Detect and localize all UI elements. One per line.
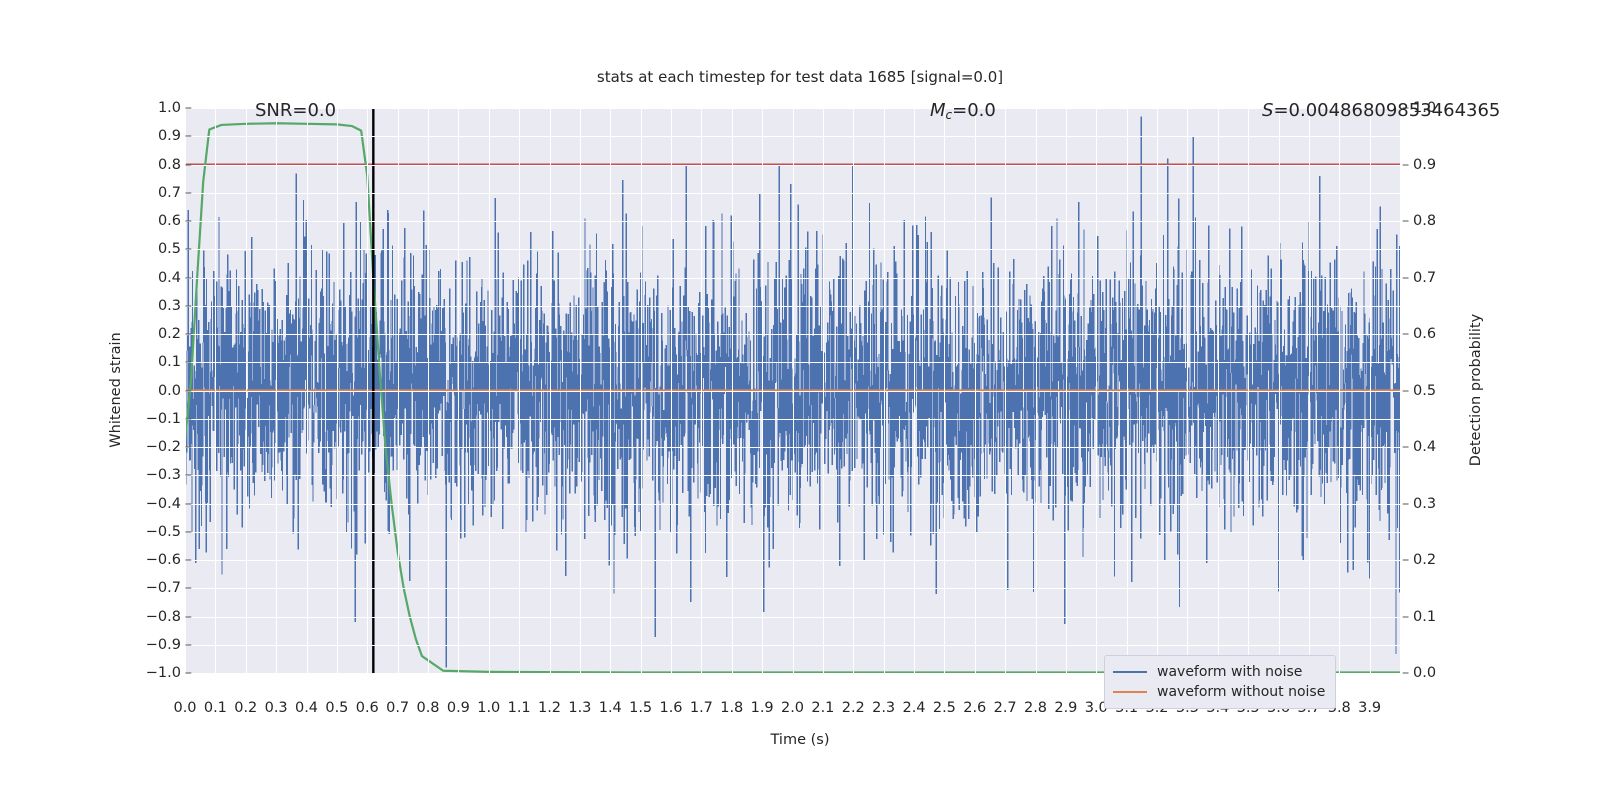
gridline-horizontal bbox=[185, 249, 1400, 250]
x-tick-label: 0.5 bbox=[325, 700, 348, 716]
y-tick-label-left: −0.9– bbox=[135, 637, 192, 653]
x-tick-label: 0.4 bbox=[295, 700, 318, 716]
annotation-score-value: =0.00486809853464365 bbox=[1273, 100, 1500, 121]
y-tick-label-left: −0.3– bbox=[135, 467, 192, 483]
gridline-horizontal bbox=[185, 306, 1400, 307]
y-tick-label-right: –0.6 bbox=[1402, 326, 1436, 342]
gridline-horizontal bbox=[185, 504, 1400, 505]
gridline-horizontal bbox=[185, 136, 1400, 137]
gridline-horizontal bbox=[185, 532, 1400, 533]
gridline-horizontal bbox=[185, 334, 1400, 335]
y-axis-label-left: Whitened strain bbox=[108, 332, 124, 447]
y-tick-label-left: 0.1– bbox=[135, 354, 192, 370]
gridline-horizontal bbox=[185, 391, 1400, 392]
x-tick-label: 2.2 bbox=[842, 700, 865, 716]
y-tick-label-left: 0.6– bbox=[135, 213, 192, 229]
figure-canvas: stats at each timestep for test data 168… bbox=[0, 0, 1600, 800]
legend-swatch-orange bbox=[1113, 691, 1147, 693]
x-tick-label: 2.0 bbox=[781, 700, 804, 716]
annotation-score: S=0.00486809853464365 bbox=[1262, 100, 1500, 121]
y-tick-label-right: –0.9 bbox=[1402, 157, 1436, 173]
y-tick-label-left: −0.2– bbox=[135, 439, 192, 455]
x-tick-label: 0.1 bbox=[204, 700, 227, 716]
y-tick-label-right: –0.3 bbox=[1402, 496, 1436, 512]
legend-label-0: waveform with noise bbox=[1157, 664, 1302, 680]
y-tick-label-left: −0.5– bbox=[135, 524, 192, 540]
x-tick-label: 1.7 bbox=[690, 700, 713, 716]
gridline-horizontal bbox=[185, 617, 1400, 618]
legend-swatch-blue bbox=[1113, 671, 1147, 673]
y-tick-label-right: –0.5 bbox=[1402, 383, 1436, 399]
x-tick-label: 1.3 bbox=[568, 700, 591, 716]
y-axis-label-right: Detection probability bbox=[1468, 314, 1484, 466]
gridline-horizontal bbox=[185, 278, 1400, 279]
y-tick-label-left: −0.7– bbox=[135, 580, 192, 596]
annotation-chirp-mass-symbol: M bbox=[930, 100, 946, 121]
x-tick-label: 0.3 bbox=[265, 700, 288, 716]
y-tick-label-left: 0.9– bbox=[135, 128, 192, 144]
x-tick-label: 2.5 bbox=[933, 700, 956, 716]
x-tick-label: 0.8 bbox=[416, 700, 439, 716]
x-tick-label: 1.2 bbox=[538, 700, 561, 716]
y-tick-label-left: 0.2– bbox=[135, 326, 192, 342]
y-tick-label-left: −0.4– bbox=[135, 496, 192, 512]
y-tick-label-left: −0.6– bbox=[135, 552, 192, 568]
x-axis-label: Time (s) bbox=[0, 732, 1600, 748]
y-tick-label-left: 0.3– bbox=[135, 298, 192, 314]
y-tick-label-right: –0.8 bbox=[1402, 213, 1436, 229]
legend: waveform with noise waveform without noi… bbox=[1104, 655, 1336, 709]
legend-label-1: waveform without noise bbox=[1157, 684, 1325, 700]
y-tick-label-left: −0.1– bbox=[135, 411, 192, 427]
gridline-horizontal bbox=[185, 193, 1400, 194]
y-tick-label-left: 0.7– bbox=[135, 185, 192, 201]
y-tick-label-right: –0.7 bbox=[1402, 270, 1436, 286]
annotation-snr: SNR=0.0 bbox=[255, 100, 336, 121]
annotation-chirp-mass-value: =0.0 bbox=[952, 100, 996, 121]
x-tick-label: 2.6 bbox=[963, 700, 986, 716]
x-tick-label: 0.0 bbox=[173, 700, 196, 716]
x-tick-label: 1.5 bbox=[629, 700, 652, 716]
x-tick-label: 2.1 bbox=[811, 700, 834, 716]
gridline-horizontal bbox=[185, 560, 1400, 561]
y-tick-label-right: –0.1 bbox=[1402, 609, 1436, 625]
x-tick-label: 1.9 bbox=[751, 700, 774, 716]
y-tick-label-left: −1.0– bbox=[135, 665, 192, 681]
y-tick-label-left: −0.8– bbox=[135, 609, 192, 625]
y-tick-label-left: 0.8– bbox=[135, 157, 192, 173]
gridline-horizontal bbox=[185, 419, 1400, 420]
x-tick-label: 1.4 bbox=[599, 700, 622, 716]
y-tick-label-right: –0.0 bbox=[1402, 665, 1436, 681]
gridline-horizontal bbox=[185, 108, 1400, 109]
legend-item-waveform-with-noise: waveform with noise bbox=[1113, 662, 1325, 682]
gridline-horizontal bbox=[185, 645, 1400, 646]
x-tick-label: 2.9 bbox=[1054, 700, 1077, 716]
x-tick-label: 2.4 bbox=[902, 700, 925, 716]
plot-title: stats at each timestep for test data 168… bbox=[0, 68, 1600, 86]
legend-item-waveform-without-noise: waveform without noise bbox=[1113, 682, 1325, 702]
x-tick-label: 1.1 bbox=[508, 700, 531, 716]
x-tick-label: 1.0 bbox=[477, 700, 500, 716]
x-tick-label: 3.9 bbox=[1358, 700, 1381, 716]
x-tick-label: 2.3 bbox=[872, 700, 895, 716]
x-tick-label: 0.9 bbox=[447, 700, 470, 716]
x-tick-label: 1.6 bbox=[659, 700, 682, 716]
x-tick-label: 2.8 bbox=[1024, 700, 1047, 716]
gridline-horizontal bbox=[185, 447, 1400, 448]
gridline-horizontal bbox=[185, 221, 1400, 222]
plot-area bbox=[185, 108, 1400, 673]
y-tick-label-right: –0.4 bbox=[1402, 439, 1436, 455]
gridline-horizontal bbox=[185, 165, 1400, 166]
x-tick-label: 0.2 bbox=[234, 700, 257, 716]
annotation-score-symbol: S bbox=[1262, 100, 1273, 121]
x-tick-label: 1.8 bbox=[720, 700, 743, 716]
y-tick-label-left: 1.0– bbox=[135, 100, 192, 116]
x-tick-label: 2.7 bbox=[994, 700, 1017, 716]
gridline-horizontal bbox=[185, 588, 1400, 589]
y-tick-label-right: –0.2 bbox=[1402, 552, 1436, 568]
gridline-horizontal bbox=[185, 475, 1400, 476]
x-tick-label: 0.7 bbox=[386, 700, 409, 716]
y-tick-label-left: 0.0– bbox=[135, 383, 192, 399]
y-tick-label-left: 0.4– bbox=[135, 270, 192, 286]
y-tick-label-left: 0.5– bbox=[135, 241, 192, 257]
x-tick-label: 0.6 bbox=[356, 700, 379, 716]
annotation-chirp-mass: Mc=0.0 bbox=[930, 100, 996, 122]
gridline-horizontal bbox=[185, 362, 1400, 363]
